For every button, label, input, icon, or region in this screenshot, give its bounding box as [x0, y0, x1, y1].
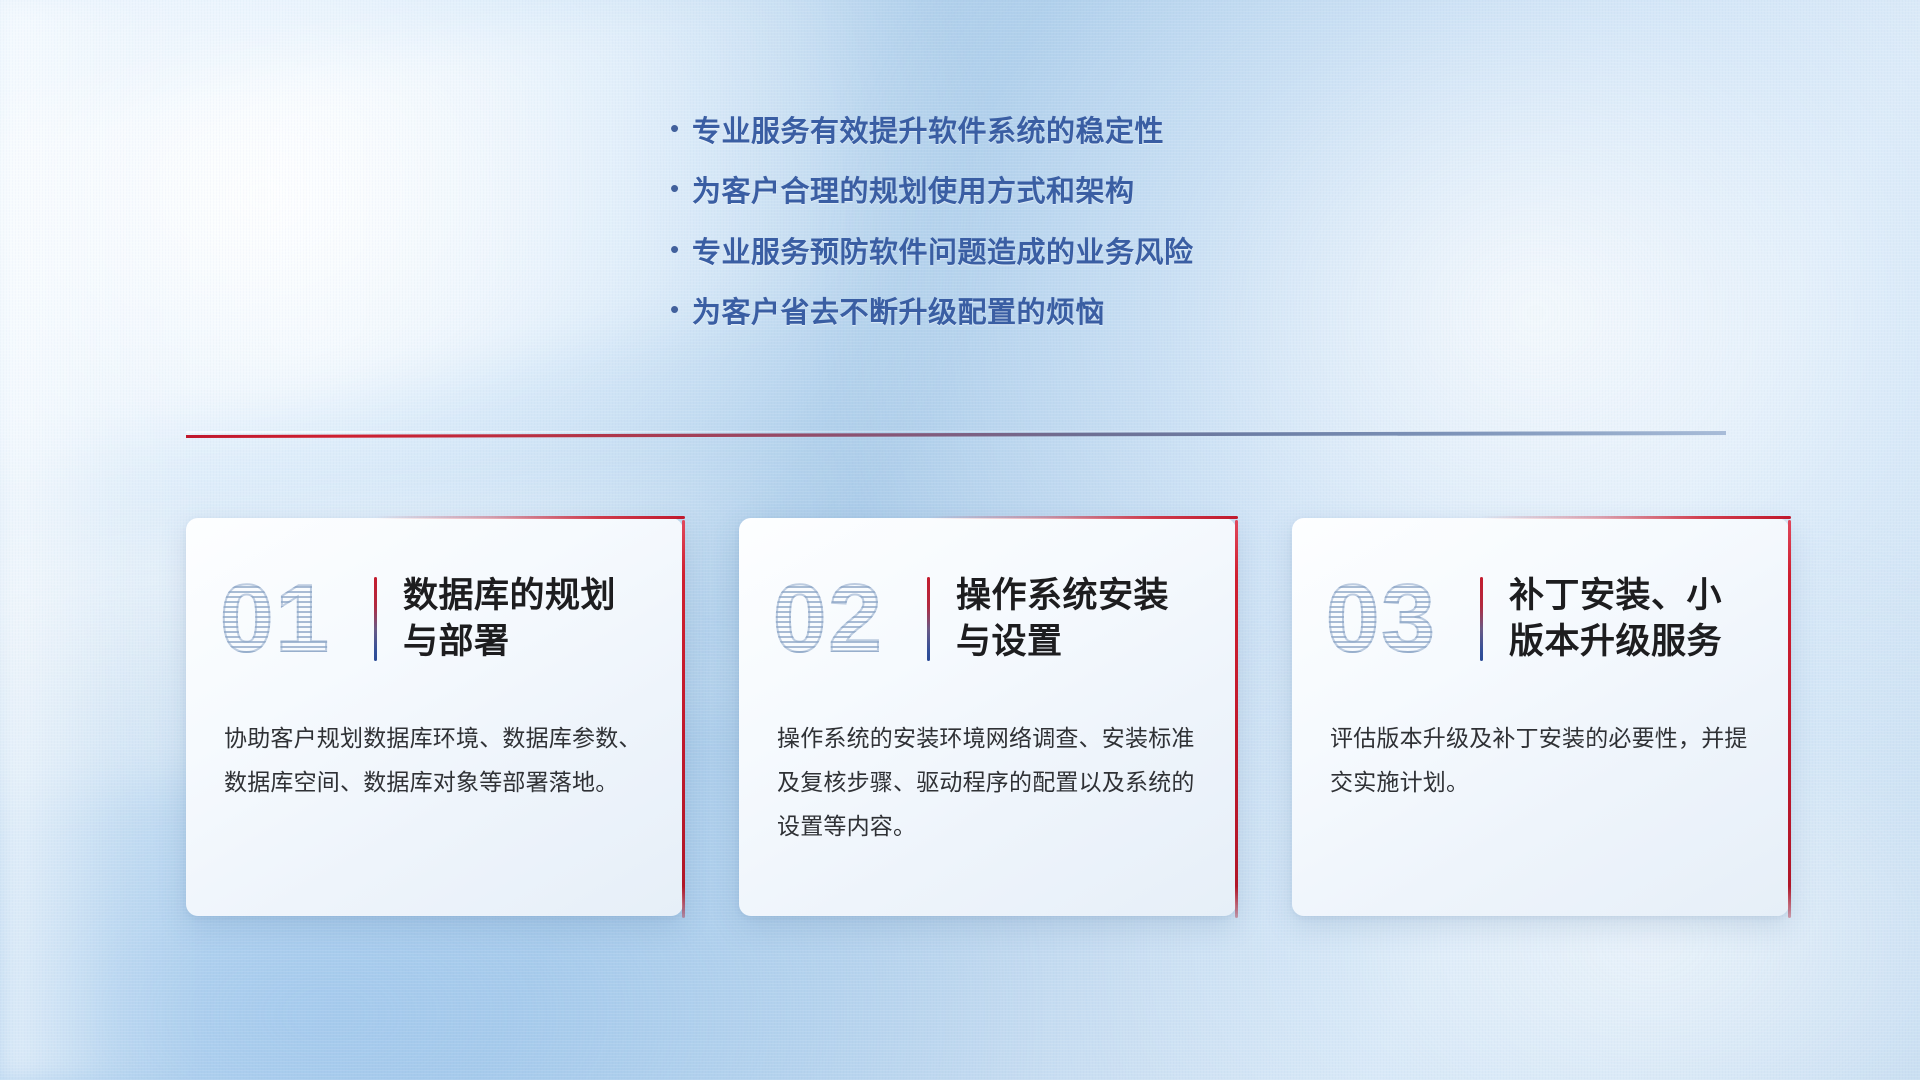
list-item: • 专业服务预防软件问题造成的业务风险 — [670, 235, 1194, 271]
card-title: 补丁安装、小版本升级服务 — [1509, 573, 1755, 665]
card-right-accent — [682, 520, 685, 918]
bullet-dot-icon: • — [670, 175, 692, 201]
list-item: • 为客户合理的规划使用方式和架构 — [670, 174, 1194, 210]
card-right-accent — [1788, 520, 1791, 918]
card-right-accent — [1235, 520, 1238, 918]
service-card-group: 01 数据库的规划与部署 协助客户规划数据库环境、数据库参数、数据库空间、数据库… — [0, 518, 1920, 916]
bullet-dot-icon: • — [670, 296, 692, 322]
bullet-text: 专业服务有效提升软件系统的稳定性 — [692, 114, 1164, 150]
benefits-bullet-list: • 专业服务有效提升软件系统的稳定性 • 为客户合理的规划使用方式和架构 • 专… — [670, 114, 1194, 355]
card-title: 操作系统安装与设置 — [956, 573, 1202, 665]
card-number: 02 — [773, 565, 923, 673]
bullet-text: 专业服务预防软件问题造成的业务风险 — [692, 235, 1194, 271]
service-card[interactable]: 03 补丁安装、小版本升级服务 评估版本升级及补丁安装的必要性，并提交实施计划。 — [1292, 518, 1789, 916]
card-header: 03 补丁安装、小版本升级服务 — [1292, 518, 1789, 678]
card-title: 数据库的规划与部署 — [403, 573, 649, 665]
card-top-accent — [928, 516, 1238, 519]
card-number: 01 — [220, 565, 370, 673]
list-item: • 为客户省去不断升级配置的烦恼 — [670, 295, 1194, 331]
card-description: 评估版本升级及补丁安装的必要性，并提交实施计划。 — [1292, 678, 1789, 804]
card-top-accent — [1481, 516, 1791, 519]
section-divider — [186, 425, 1726, 447]
card-divider-rule — [1480, 577, 1483, 661]
card-description: 协助客户规划数据库环境、数据库参数、数据库空间、数据库对象等部署落地。 — [186, 678, 683, 804]
card-description: 操作系统的安装环境网络调查、安装标准及复核步骤、驱动程序的配置以及系统的设置等内… — [739, 678, 1236, 848]
card-divider-rule — [927, 577, 930, 661]
card-number: 03 — [1326, 565, 1476, 673]
bullet-text: 为客户合理的规划使用方式和架构 — [692, 174, 1135, 210]
card-header: 01 数据库的规划与部署 — [186, 518, 683, 678]
bullet-dot-icon: • — [670, 236, 692, 262]
bullet-dot-icon: • — [670, 115, 692, 141]
list-item: • 专业服务有效提升软件系统的稳定性 — [670, 114, 1194, 150]
service-card[interactable]: 01 数据库的规划与部署 协助客户规划数据库环境、数据库参数、数据库空间、数据库… — [186, 518, 683, 916]
card-top-accent — [375, 516, 685, 519]
card-divider-rule — [374, 577, 377, 661]
bullet-text: 为客户省去不断升级配置的烦恼 — [692, 295, 1105, 331]
service-card[interactable]: 02 操作系统安装与设置 操作系统的安装环境网络调查、安装标准及复核步骤、驱动程… — [739, 518, 1236, 916]
card-header: 02 操作系统安装与设置 — [739, 518, 1236, 678]
